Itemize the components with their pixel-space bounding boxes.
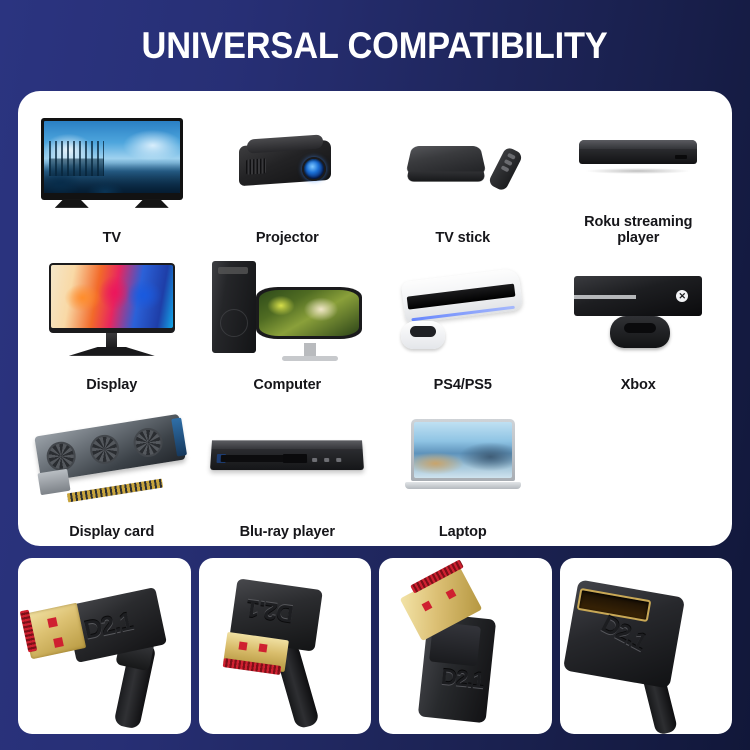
device-label: Roku streaming player	[584, 214, 692, 246]
product-photo-strip: D2.1 D2.1 D2.1 D2.1	[18, 558, 732, 734]
product-panel-straight-male[interactable]: D2.1	[379, 558, 552, 734]
product-panel-angled-left[interactable]: D2.1	[18, 558, 191, 734]
device-cell-tv-stick: TV stick	[375, 101, 551, 248]
device-label: PS4/PS5	[434, 377, 492, 393]
device-cell-bluray: Blu-ray player	[200, 395, 376, 542]
device-cell-display-card: Display card	[24, 395, 200, 542]
header-bar: UNIVERSAL COMPATIBILITY	[0, 0, 750, 91]
graphics-card-icon	[24, 395, 200, 521]
device-cell-display: Display	[24, 248, 200, 395]
device-cell-empty	[551, 395, 727, 542]
xbox-console-icon: ✕	[551, 248, 727, 374]
tv-stick-icon	[375, 101, 551, 227]
device-label: Laptop	[439, 524, 487, 540]
device-grid: TV Projector TV stick	[24, 101, 726, 542]
device-cell-computer: Computer	[200, 248, 376, 395]
device-cell-laptop: Laptop	[375, 395, 551, 542]
device-cell-xbox: ✕ Xbox	[551, 248, 727, 395]
device-cell-tv: TV	[24, 101, 200, 248]
laptop-icon	[375, 395, 551, 521]
playstation-console-icon	[375, 248, 551, 374]
product-panel-angled-down[interactable]: D2.1	[199, 558, 372, 734]
product-panel-female-port[interactable]: D2.1	[560, 558, 733, 734]
compatibility-card: TV Projector TV stick	[18, 91, 732, 546]
device-label: Display card	[69, 524, 154, 540]
device-label: Projector	[256, 230, 319, 246]
device-label: Display	[86, 377, 137, 393]
desktop-computer-icon	[200, 248, 376, 374]
roku-player-icon	[551, 101, 727, 211]
connector-marking: D2.1	[440, 664, 485, 694]
monitor-icon	[24, 248, 200, 374]
device-cell-projector: Projector	[200, 101, 376, 248]
bluray-player-icon	[200, 395, 376, 521]
device-cell-roku: Roku streaming player	[551, 101, 727, 248]
tv-icon	[24, 101, 200, 227]
page-title: UNIVERSAL COMPATIBILITY	[142, 25, 608, 67]
device-cell-playstation: PS4/PS5	[375, 248, 551, 395]
projector-icon	[200, 101, 376, 227]
device-label: TV	[103, 230, 121, 246]
device-label: Xbox	[621, 377, 656, 393]
device-label: Computer	[253, 377, 321, 393]
device-label: Blu-ray player	[240, 524, 335, 540]
device-label: TV stick	[435, 230, 490, 246]
